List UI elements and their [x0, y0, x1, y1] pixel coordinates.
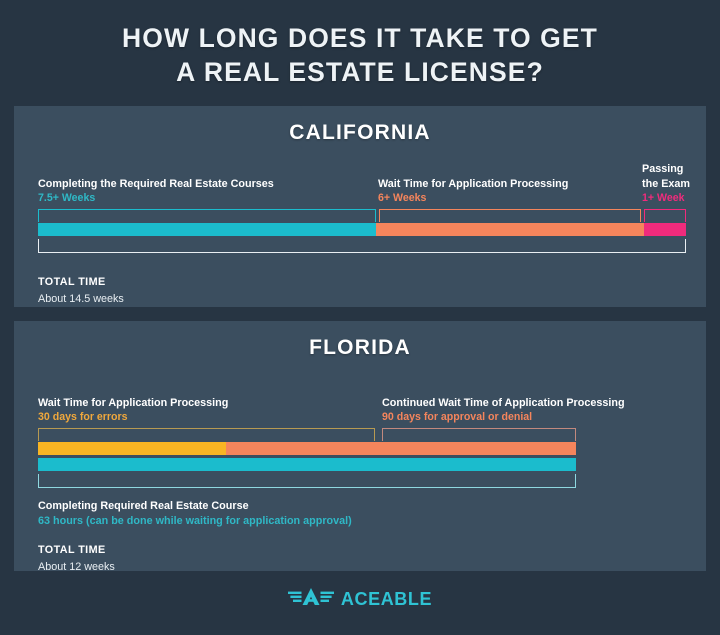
florida-segment-labels: Wait Time for Application Processing 30 … [38, 383, 682, 425]
florida-content: Wait Time for Application Processing 30 … [38, 383, 682, 575]
florida-bar-wait-30 [38, 442, 226, 455]
california-total-value: About 14.5 weeks [38, 291, 682, 307]
florida-segment-0-name: Wait Time for Application Processing [38, 396, 228, 410]
florida-course-note: Completing Required Real Estate Course 6… [38, 499, 682, 530]
california-bracket-total [38, 239, 686, 253]
california-segment-labels: Completing the Required Real Estate Cour… [38, 164, 682, 206]
florida-segment-1-label: Continued Wait Time of Application Proce… [382, 396, 625, 425]
florida-total-label: TOTAL TIME [38, 543, 682, 559]
florida-segment-0-value: 30 days for errors [38, 410, 228, 425]
florida-bracket-wait-30 [38, 428, 375, 441]
california-segment-1-name: Wait Time for Application Processing [378, 177, 568, 191]
california-segment-2-name-line-1: Passing [642, 162, 714, 176]
california-segment-0-label: Completing the Required Real Estate Cour… [38, 177, 274, 206]
page-title: HOW LONG DOES IT TAKE TO GET A REAL ESTA… [0, 22, 720, 90]
page-title-line-2: A REAL ESTATE LICENSE? [0, 56, 720, 90]
florida-bracket-total [38, 474, 576, 488]
florida-panel: FLORIDA Wait Time for Application Proces… [14, 321, 706, 571]
california-bracket-wait [379, 209, 641, 222]
california-total-label: TOTAL TIME [38, 275, 682, 291]
page-header: HOW LONG DOES IT TAKE TO GET A REAL ESTA… [0, 0, 720, 90]
california-segment-1-label: Wait Time for Application Processing 6+ … [378, 177, 568, 206]
california-bar-wait [376, 223, 644, 236]
california-segment-2-name-line-2: the Exam [642, 177, 714, 191]
florida-bracket-wait-90 [382, 428, 576, 441]
california-content: Completing the Required Real Estate Cour… [38, 164, 682, 307]
florida-total: TOTAL TIME About 12 weeks [38, 543, 682, 575]
florida-course-value: 63 hours (can be done while waiting for … [38, 514, 682, 530]
california-segment-0-name: Completing the Required Real Estate Cour… [38, 177, 274, 191]
florida-segment-1-value: 90 days for approval or denial [382, 410, 625, 425]
california-bar-chart [38, 209, 682, 262]
florida-segment-0-label: Wait Time for Application Processing 30 … [38, 396, 228, 425]
california-bar-courses [38, 223, 376, 236]
florida-total-value: About 12 weeks [38, 559, 682, 575]
california-bracket-courses [38, 209, 376, 222]
california-segment-0-value: 7.5+ Weeks [38, 191, 274, 206]
florida-bar-course [38, 458, 576, 471]
florida-title: FLORIDA [14, 321, 706, 360]
california-segment-2-label: Passing the Exam 1+ Week [642, 162, 714, 206]
california-title: CALIFORNIA [14, 106, 706, 145]
california-bar-exam [644, 223, 686, 236]
florida-course-name: Completing Required Real Estate Course [38, 499, 682, 514]
florida-bar-chart [38, 428, 682, 490]
california-total: TOTAL TIME About 14.5 weeks [38, 275, 682, 307]
winged-a-logo-icon [288, 586, 334, 613]
page-title-line-1: HOW LONG DOES IT TAKE TO GET [122, 23, 598, 53]
florida-segment-1-name: Continued Wait Time of Application Proce… [382, 396, 625, 410]
florida-bar-wait-90 [226, 442, 576, 455]
california-segment-1-value: 6+ Weeks [378, 191, 568, 206]
california-bracket-exam [644, 209, 686, 222]
brand-name: ACEABLE [341, 589, 432, 610]
california-panel: CALIFORNIA Completing the Required Real … [14, 106, 706, 307]
infographic-page: HOW LONG DOES IT TAKE TO GET A REAL ESTA… [0, 0, 720, 635]
california-segment-2-value: 1+ Week [642, 191, 714, 206]
footer: ACEABLE [0, 586, 720, 613]
